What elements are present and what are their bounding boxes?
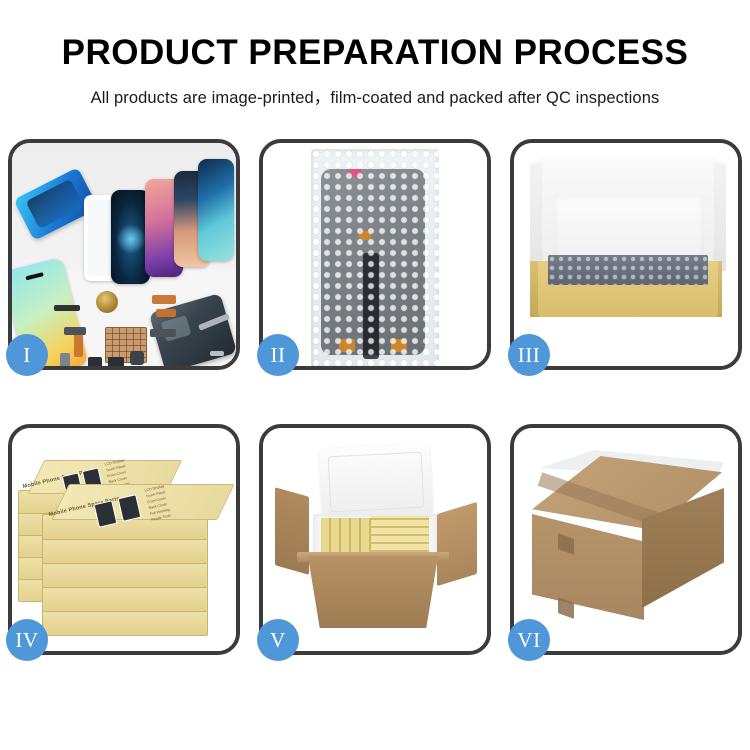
stacked-box-front-3 — [42, 562, 208, 588]
part-bracket-b — [150, 329, 176, 337]
page-title: PRODUCT PREPARATION PROCESS — [0, 34, 750, 73]
part-battery-connector — [108, 357, 124, 366]
part-flex-cable-b — [156, 309, 176, 317]
step-badge-1: I — [6, 334, 48, 376]
step-3-image — [514, 143, 738, 366]
step-badge-5: V — [257, 619, 299, 661]
process-step-card-2[interactable]: II — [259, 139, 491, 370]
stacked-box-front-2 — [42, 538, 208, 564]
part-vibrator — [88, 357, 102, 366]
step-6-image — [514, 428, 738, 651]
process-step-card-5[interactable]: V — [259, 424, 491, 655]
part-screw-set — [210, 351, 224, 356]
step-badge-2: II — [257, 334, 299, 376]
lcd-connector-left — [339, 339, 355, 352]
stacked-box-front-5 — [42, 610, 208, 636]
stacked-box-front-top-face — [51, 484, 235, 520]
part-speaker-mesh — [54, 305, 80, 311]
step-badge-3: III — [508, 334, 550, 376]
phone-teal — [198, 159, 234, 261]
bubble-wrapped-contents — [548, 255, 708, 285]
part-flex-cable-a — [152, 295, 176, 304]
sealed-carton-front — [532, 514, 644, 620]
step-2-image — [263, 143, 487, 366]
step-4-image: Mobile Phone Spare Parts LCD Display Tou… — [12, 428, 236, 651]
step-badge-4: IV — [6, 619, 48, 661]
process-step-card-4[interactable]: Mobile Phone Spare Parts LCD Display Tou… — [8, 424, 240, 655]
wireless-charging-coil — [96, 291, 118, 313]
part-sim-tray — [60, 353, 70, 366]
step-badge-6: VI — [508, 619, 550, 661]
carton-flap-right — [437, 502, 477, 586]
box-stack: Mobile Phone Spare Parts LCD Display Tou… — [12, 428, 236, 651]
part-bracket-a — [64, 327, 86, 335]
part-camera-module — [130, 351, 144, 365]
foam-cooler-lid — [319, 443, 433, 521]
process-step-card-3[interactable]: III — [510, 139, 742, 370]
process-step-card-6[interactable]: VI — [510, 424, 742, 655]
pink-qc-label — [349, 169, 361, 177]
page-subtitle: All products are image-printed，film-coat… — [0, 84, 750, 108]
step-1-image — [12, 143, 236, 366]
process-step-card-1[interactable]: I — [8, 139, 240, 370]
step-5-image — [263, 428, 487, 651]
lcd-connector-top — [359, 231, 371, 240]
lcd-flex-cable — [363, 253, 379, 359]
carton-body — [299, 556, 447, 628]
page-header: PRODUCT PREPARATION PROCESS All products… — [0, 0, 750, 108]
stacked-box-front-4 — [42, 586, 208, 612]
process-step-grid: I II III — [8, 139, 742, 655]
lcd-connector-right — [391, 339, 407, 352]
